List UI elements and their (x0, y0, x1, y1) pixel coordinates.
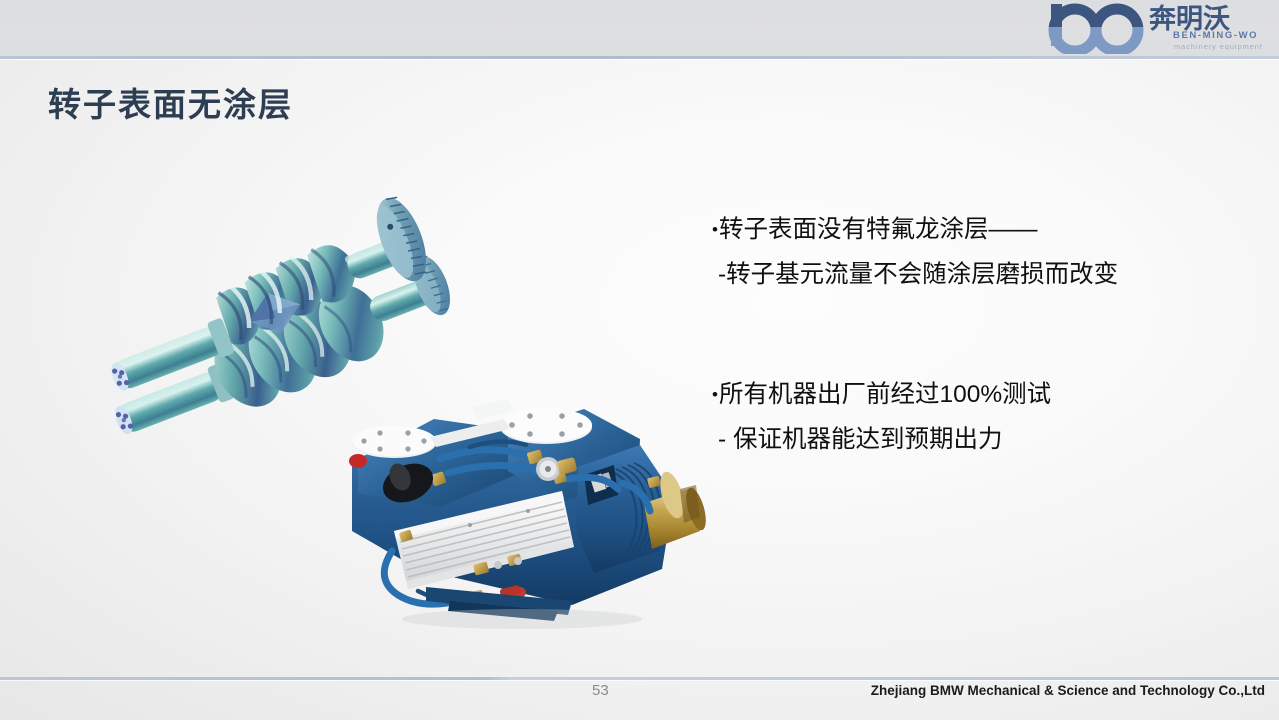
presentation-slide: 奔明沃 BEN-MING-WO machinery equipment 转子表面… (0, 0, 1279, 720)
bullet-marker: • (712, 220, 718, 239)
logo-tagline: machinery equipment (1174, 42, 1263, 51)
company-logo: 奔明沃 BEN-MING-WO machinery equipment (1041, 2, 1273, 54)
bullet-main-text: 转子表面没有特氟龙涂层—— (719, 216, 1038, 243)
footer-divider-rule (0, 677, 1279, 680)
bullet-main-text: 所有机器出厂前经过100%测试 (719, 381, 1051, 408)
compressor-image (322, 355, 722, 630)
bullet-sub-text: - 保证机器能达到预期出力 (712, 418, 1252, 463)
page-number: 53 (592, 682, 609, 699)
header-divider-rule (0, 56, 1279, 59)
bullet-main-line: •转子表面没有特氟龙涂层—— (712, 208, 1252, 253)
page-title: 转子表面无涂层 (48, 78, 293, 126)
footer-company-name: Zhejiang BMW Mechanical & Science and Te… (871, 683, 1265, 698)
bullet-group: •所有机器出厂前经过100%测试 - 保证机器能达到预期出力 (712, 373, 1252, 462)
bullet-sub-text: -转子基元流量不会随涂层磨损而改变 (712, 253, 1252, 298)
bullet-group: •转子表面没有特氟龙涂层—— -转子基元流量不会随涂层磨损而改变 (712, 208, 1252, 297)
bullet-main-line: •所有机器出厂前经过100%测试 (712, 373, 1252, 418)
logo-latin-name: BEN-MING-WO (1173, 30, 1258, 41)
bullet-marker: • (712, 385, 718, 404)
compressor-illustration (322, 355, 722, 630)
content-bullets: •转子表面没有特氟龙涂层—— -转子基元流量不会随涂层磨损而改变 •所有机器出厂… (712, 208, 1252, 462)
